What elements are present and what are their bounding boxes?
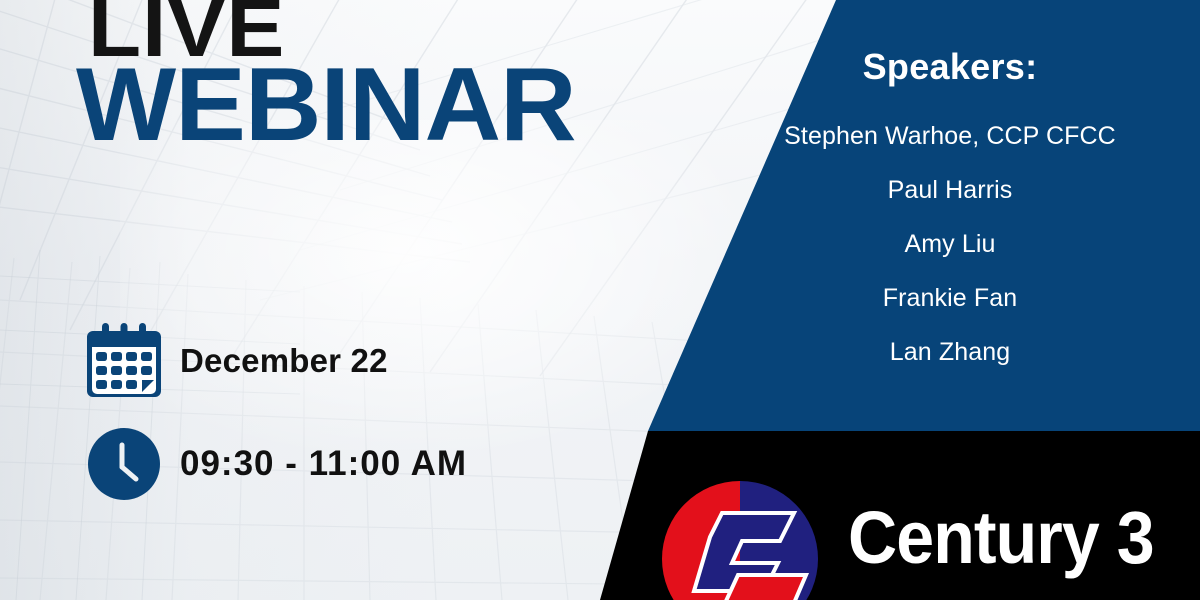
speakers-section: Speakers: Stephen Warhoe, CCP CFCC Paul …: [700, 0, 1200, 431]
speakers-list: Stephen Warhoe, CCP CFCC Paul Harris Amy…: [700, 124, 1200, 394]
calendar-icon: [84, 323, 164, 399]
speaker-name: Frankie Fan: [700, 286, 1200, 311]
speaker-name: Stephen Warhoe, CCP CFCC: [700, 124, 1200, 149]
event-time-row: 09:30 - 11:00 AM: [84, 428, 467, 500]
speaker-name: Lan Zhang: [700, 340, 1200, 365]
speaker-name: Amy Liu: [700, 232, 1200, 257]
brand-name: Century 3: [848, 495, 1154, 580]
event-date-row: December 22: [84, 323, 388, 399]
event-time-text: 09:30 - 11:00 AM: [180, 444, 467, 484]
century3-circle-logo: [660, 479, 820, 600]
speakers-title: Speakers:: [863, 46, 1038, 88]
event-date-text: December 22: [180, 342, 388, 380]
headline-group: LIVE WEBINAR: [88, 0, 578, 154]
webinar-poster: LIVE WEBINAR: [0, 0, 1200, 600]
headline-webinar: WEBINAR: [76, 61, 576, 150]
speaker-name: Paul Harris: [700, 178, 1200, 203]
clock-icon: [84, 428, 164, 500]
